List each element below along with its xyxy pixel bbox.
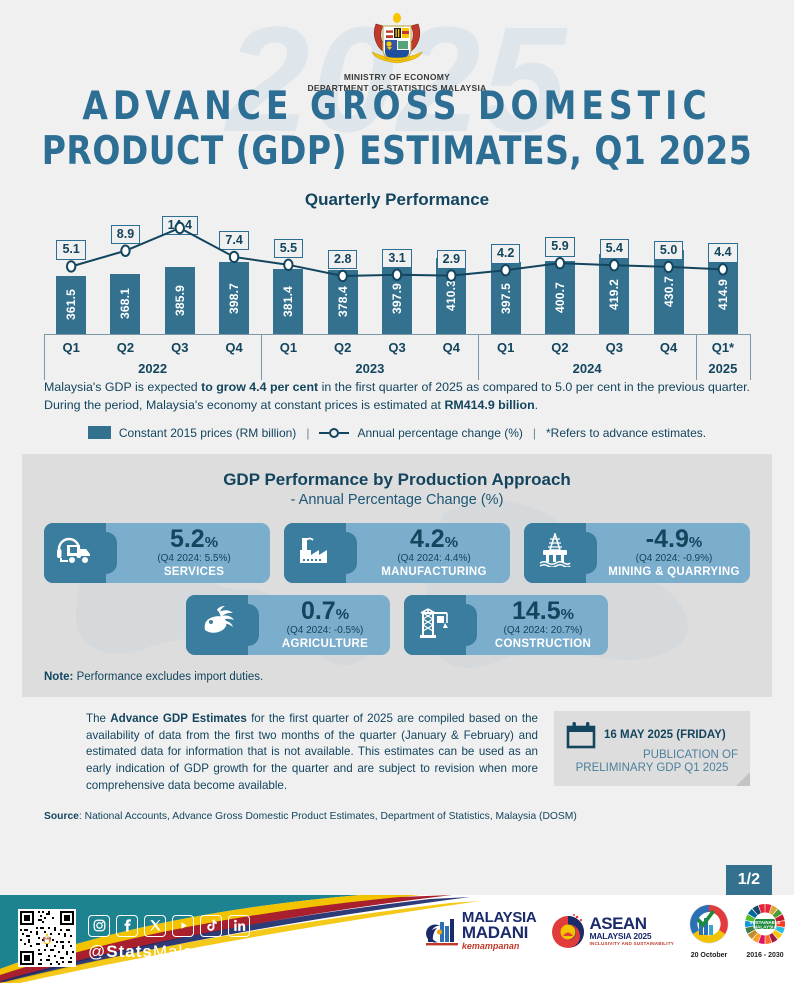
sector-previous-quarter: (Q4 2024: 4.4%) (397, 553, 470, 564)
legend-line-marker-icon (319, 427, 349, 439)
publication-date-box: 16 MAY 2025 (FRIDAY) PUBLICATION OF PREL… (554, 711, 750, 786)
sector-card-body: -4.9% (Q4 2024: -0.9%) MINING & QUARRYIN… (586, 523, 750, 583)
production-title: GDP Performance by Production Approach (44, 470, 750, 490)
narrative-bold2: RM414.9 billion (444, 398, 534, 412)
quarter-label: Q3 (153, 340, 207, 355)
title-line-2: PRODUCT (GDP) ESTIMATES, Q1 2025 (0, 130, 794, 172)
sector-cards-row-1: 5.2% (Q4 2024: 5.5%) SERVICES 4.2% (Q4 2… (44, 523, 750, 583)
chart-column: 4.4414.9 (696, 216, 750, 334)
page-indicator: 1/2 (726, 865, 772, 895)
publication-line2: PUBLICATION OF (566, 749, 738, 761)
bar-value-label: 368.1 (118, 288, 132, 319)
axis-edge-separator (44, 334, 45, 380)
bar-value-label: 430.7 (662, 276, 676, 307)
footnote-section: The Advance GDP Estimates for the first … (44, 711, 750, 795)
bar-value-label: 419.2 (607, 279, 621, 310)
note-label: Note: (44, 671, 73, 683)
annual-change-label: 3.1 (382, 249, 411, 268)
sector-name: AGRICULTURE (282, 638, 368, 650)
handle-light: Malaysia (153, 942, 228, 961)
quarter-label: Q4 (424, 340, 478, 355)
axis-top-line (44, 334, 750, 335)
bar-value-label: 398.7 (227, 283, 241, 314)
narrative-part1: Malaysia's GDP is expected (44, 380, 201, 394)
axis-edge-separator (750, 334, 751, 380)
chart-title: Quarterly Performance (44, 190, 750, 210)
year-separator (261, 334, 262, 380)
sector-previous-quarter: (Q4 2024: -0.9%) (636, 553, 713, 564)
sector-icon-panel (284, 523, 346, 583)
chart-axis: Q1Q2Q3Q4Q1Q2Q3Q4Q1Q2Q3Q4Q1* 202220232024… (44, 334, 750, 382)
sdg-wheel-icon: SUSTAINABLE MALAYSIA (744, 903, 786, 945)
asean-sub: INCLUSIVITY AND SUSTAINABILITY (589, 941, 674, 946)
annual-change-label: 5.9 (545, 237, 574, 256)
handle-at: @ (88, 942, 106, 961)
sector-previous-quarter: (Q4 2024: -0.5%) (287, 625, 364, 636)
year-label-row: 2022202320242025 (44, 355, 750, 376)
bar-value-label: 397.9 (390, 283, 404, 314)
social-handle: @StatsMalaysia (88, 942, 250, 962)
chart-column: 5.5381.4 (261, 216, 315, 334)
quarter-label: Q3 (587, 340, 641, 355)
bar-value-label: 397.5 (499, 283, 513, 314)
x-twitter-icon[interactable] (144, 915, 166, 937)
chart-bar: 381.4 (273, 269, 303, 334)
facebook-icon[interactable] (116, 915, 138, 937)
chart-bar: 378.4 (328, 270, 358, 334)
quarterly-performance-chart: Quarterly Performance 5.1361.58.9368.114… (0, 190, 794, 366)
chart-bar: 398.7 (219, 262, 249, 334)
footnote-b1: Advance GDP Estimates (110, 712, 247, 725)
quarter-label: Q1 (261, 340, 315, 355)
instagram-icon[interactable] (88, 915, 110, 937)
chart-column: 8.9368.1 (98, 216, 152, 334)
social-block: @StatsMalaysia (18, 909, 250, 967)
statistics-day-logo: 20 October (688, 903, 730, 959)
linkedin-icon[interactable] (228, 915, 250, 937)
annual-change-label: 2.8 (328, 250, 357, 269)
sector-previous-quarter: (Q4 2024: 5.5%) (157, 553, 230, 564)
sector-value: 14.5% (512, 599, 574, 624)
madani-text: MALAYSIA MADANI kemampanan (462, 911, 537, 952)
chart-bar: 385.9 (165, 267, 195, 334)
production-subtitle: - Annual Percentage Change (%) (44, 492, 750, 508)
chart-bar: 410.3 (436, 258, 466, 334)
madani-sub: kemampanan (462, 941, 537, 951)
annual-change-label: 8.9 (111, 225, 140, 244)
sector-card: 14.5% (Q4 2024: 20.7%) CONSTRUCTION (404, 595, 608, 655)
bar-value-label: 410.3 (444, 280, 458, 311)
crest-block: MINISTRY OF ECONOMY DEPARTMENT OF STATIS… (0, 10, 794, 93)
footer: @StatsMalaysia MALAYSIA MADANI kemampana… (0, 895, 794, 983)
footnote-p1: The (86, 712, 110, 725)
chart-column: 7.4398.7 (207, 216, 261, 334)
header: 2025 (0, 0, 794, 190)
sdg-wheel-logo: SUSTAINABLE MALAYSIA 2016 - 2030 (744, 903, 786, 959)
sector-card: 5.2% (Q4 2024: 5.5%) SERVICES (44, 523, 270, 583)
sector-previous-quarter: (Q4 2024: 20.7%) (504, 625, 583, 636)
quarter-label: Q1* (696, 340, 750, 355)
asean-spiral-icon (550, 913, 586, 949)
handle-bold: Stats (106, 942, 153, 961)
sector-card-body: 4.2% (Q4 2024: 4.4%) MANUFACTURING (346, 523, 510, 583)
sector-percent-sign: % (689, 534, 702, 551)
bar-value-label: 385.9 (173, 285, 187, 316)
oil-rig-icon (536, 533, 574, 572)
chart-column: 2.9410.3 (424, 216, 478, 334)
madani-line2: MADANI (462, 925, 537, 941)
page-title: ADVANCE GROSS DOMESTIC PRODUCT (GDP) EST… (0, 85, 794, 165)
sector-name: SERVICES (164, 566, 224, 578)
qr-code-icon (18, 909, 76, 967)
sector-value: -4.9% (646, 527, 702, 552)
sector-value: 0.7% (301, 599, 349, 624)
chart-bar: 400.7 (545, 261, 575, 334)
legend-bar-swatch (88, 426, 111, 439)
sector-name: MANUFACTURING (381, 566, 486, 578)
ministry-line-1: MINISTRY OF ECONOMY (0, 72, 794, 83)
note-text: Performance excludes import duties. (73, 671, 263, 683)
publication-date: 16 MAY 2025 (FRIDAY) (604, 729, 726, 741)
malaysia-madani-logo: MALAYSIA MADANI kemampanan (426, 911, 537, 952)
sector-percent-sign: % (561, 606, 574, 623)
sector-card-body: 14.5% (Q4 2024: 20.7%) CONSTRUCTION (466, 595, 608, 655)
annual-change-label: 2.9 (437, 250, 466, 269)
statistics-day-caption: 20 October (688, 952, 730, 959)
year-label: 2022 (44, 361, 261, 376)
production-panel-content: GDP Performance by Production Approach -… (44, 470, 750, 683)
sector-card: 0.7% (Q4 2024: -0.5%) AGRICULTURE (186, 595, 390, 655)
quarter-label: Q4 (641, 340, 695, 355)
annual-change-label: 5.5 (274, 239, 303, 258)
asean-line1: ASEAN (589, 916, 674, 931)
chart-bar: 397.5 (491, 262, 521, 334)
bar-value-label: 400.7 (553, 282, 567, 313)
construction-crane-icon (417, 605, 453, 644)
sector-cards-row-2: 0.7% (Q4 2024: -0.5%) AGRICULTURE 14.5% … (44, 595, 750, 655)
sector-icon-panel (524, 523, 586, 583)
factory-icon (296, 534, 334, 571)
chart-legend: Constant 2015 prices (RM billion) | Annu… (0, 426, 794, 440)
qr-code[interactable] (18, 909, 76, 967)
chart-column: 14.4385.9 (153, 216, 207, 334)
legend-bar-label: Constant 2015 prices (RM billion) (119, 426, 296, 440)
tiktok-icon[interactable] (200, 915, 222, 937)
sector-icon-panel (186, 595, 248, 655)
title-line-1: ADVANCE GROSS DOMESTIC (0, 85, 794, 127)
quarter-label: Q3 (370, 340, 424, 355)
advance-estimates-explanation: The Advance GDP Estimates for the first … (44, 711, 538, 795)
legend-line-label: Annual percentage change (%) (357, 426, 522, 440)
social-icon-row (88, 915, 250, 937)
chart-bar: 368.1 (110, 274, 140, 334)
chart-bar: 361.5 (56, 276, 86, 334)
sdg-caption: 2016 - 2030 (744, 952, 786, 959)
quarter-label: Q2 (98, 340, 152, 355)
legend-separator-1: | (304, 426, 311, 440)
madani-mark-icon (426, 914, 458, 948)
sector-value: 5.2% (170, 527, 218, 552)
chart-bar: 397.9 (382, 262, 412, 334)
legend-footnote: *Refers to advance estimates. (546, 426, 706, 440)
annual-change-label: 14.4 (162, 216, 198, 235)
sector-percent-sign: % (445, 534, 458, 551)
annual-change-label: 5.1 (56, 240, 85, 259)
year-separator (478, 334, 479, 380)
partner-logos: MALAYSIA MADANI kemampanan ASEAN MALAYSI… (426, 903, 786, 959)
social-handle-block: @StatsMalaysia (88, 915, 250, 962)
annual-change-label: 7.4 (219, 231, 248, 250)
year-label: 2025 (696, 361, 750, 376)
sector-card: -4.9% (Q4 2024: -0.9%) MINING & QUARRYIN… (524, 523, 750, 583)
annual-change-label: 5.4 (600, 239, 629, 258)
svg-text:MALAYSIA: MALAYSIA (753, 925, 777, 930)
chart-bar: 430.7 (654, 250, 684, 334)
sector-value: 4.2% (410, 527, 458, 552)
asean-malaysia-2025-logo: ASEAN MALAYSIA 2025 INCLUSIVITY AND SUST… (550, 913, 674, 949)
source-text: : National Accounts, Advance Gross Domes… (79, 811, 577, 822)
sector-card-body: 5.2% (Q4 2024: 5.5%) SERVICES (106, 523, 270, 583)
sector-icon-panel (404, 595, 466, 655)
calendar-icon (566, 721, 596, 749)
narrative-part3: . (535, 398, 538, 412)
sector-percent-sign: % (336, 606, 349, 623)
sector-icon-panel (44, 523, 106, 583)
chart-column: 4.2397.5 (479, 216, 533, 334)
sector-name: MINING & QUARRYING (608, 566, 739, 578)
sector-card-body: 0.7% (Q4 2024: -0.5%) AGRICULTURE (248, 595, 390, 655)
chart-plot-area: 5.1361.58.9368.114.4385.97.4398.75.5381.… (44, 216, 750, 366)
chart-columns: 5.1361.58.9368.114.4385.97.4398.75.5381.… (44, 216, 750, 334)
bar-value-label: 361.5 (64, 289, 78, 320)
narrative-paragraph: Malaysia's GDP is expected to grow 4.4 p… (44, 378, 750, 415)
quarter-label-row: Q1Q2Q3Q4Q1Q2Q3Q4Q1Q2Q3Q4Q1* (44, 334, 750, 355)
statistics-day-icon (688, 903, 730, 945)
publication-date-line: 16 MAY 2025 (FRIDAY) (566, 721, 738, 749)
chart-bar: 414.9 (708, 256, 738, 334)
narrative-bold1: to grow 4.4 per cent (201, 380, 318, 394)
chart-column: 5.1361.5 (44, 216, 98, 334)
production-note: Note: Performance excludes import duties… (44, 671, 750, 683)
quarter-label: Q1 (479, 340, 533, 355)
bar-value-label: 378.4 (336, 286, 350, 317)
chart-column: 5.9400.7 (533, 216, 587, 334)
services-truck-headset-icon (55, 533, 95, 572)
quarter-label: Q1 (44, 340, 98, 355)
bar-value-label: 381.4 (281, 286, 295, 317)
quarter-label: Q4 (207, 340, 261, 355)
bar-value-label: 414.9 (716, 279, 730, 310)
annual-change-label: 4.4 (708, 243, 737, 262)
source-label: Source (44, 811, 79, 822)
quarter-label: Q2 (533, 340, 587, 355)
chart-column: 3.1397.9 (370, 216, 424, 334)
source-line: Source: National Accounts, Advance Gross… (44, 811, 750, 822)
malaysia-coat-of-arms-icon (364, 10, 430, 70)
chart-column: 5.4419.2 (587, 216, 641, 334)
infographic-page: 2025 (0, 0, 794, 983)
publication-line3: PRELIMINARY GDP Q1 2025 (566, 762, 738, 774)
chart-column: 2.8378.4 (316, 216, 370, 334)
legend-separator-2: | (531, 426, 538, 440)
agriculture-palm-icon (197, 606, 237, 643)
production-approach-panel: GDP Performance by Production Approach -… (22, 454, 772, 697)
asean-text-block: ASEAN MALAYSIA 2025 INCLUSIVITY AND SUST… (589, 916, 674, 946)
asean-line2: MALAYSIA 2025 (589, 931, 674, 941)
annual-change-label: 5.0 (654, 241, 683, 260)
sector-name: CONSTRUCTION (495, 638, 591, 650)
year-label: 2023 (261, 361, 478, 376)
quarter-label: Q2 (316, 340, 370, 355)
year-separator (696, 334, 697, 380)
annual-change-label: 4.2 (491, 244, 520, 263)
chart-column: 5.0430.7 (641, 216, 695, 334)
sector-percent-sign: % (205, 534, 218, 551)
sector-card: 4.2% (Q4 2024: 4.4%) MANUFACTURING (284, 523, 510, 583)
chart-bar: 419.2 (599, 254, 629, 334)
youtube-icon[interactable] (172, 915, 194, 937)
year-label: 2024 (478, 361, 695, 376)
